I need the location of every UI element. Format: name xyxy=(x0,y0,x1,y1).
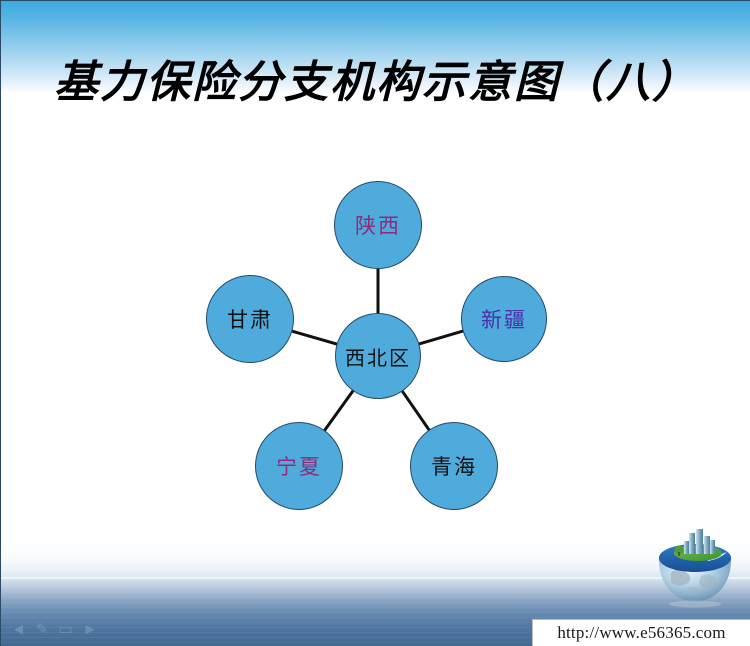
node-qinghai-label: 青海 xyxy=(431,451,477,481)
center-node-label: 西北区 xyxy=(345,342,411,371)
edge-node-xinjiang xyxy=(418,331,463,344)
node-shaanxi-label: 陕西 xyxy=(355,210,401,240)
slideshow-nav-controls[interactable]: ◄ ✎ ▭ ► xyxy=(11,622,97,637)
menu-icon[interactable]: ▭ xyxy=(58,622,72,637)
edge-node-gansu xyxy=(291,331,337,344)
node-ningxia[interactable]: 宁夏 xyxy=(255,422,343,510)
node-xinjiang[interactable]: 新疆 xyxy=(461,276,547,362)
pen-icon[interactable]: ✎ xyxy=(36,622,49,637)
website-url[interactable]: http://www.e56365.com xyxy=(532,619,750,646)
next-arrow-icon[interactable]: ► xyxy=(83,622,98,637)
website-url-text: http://www.e56365.com xyxy=(557,623,725,643)
presentation-slide: 基力保险分支机构示意图（八） 西北区 陕西 甘肃 新疆 宁夏 青海 xyxy=(0,0,750,646)
center-node[interactable]: 西北区 xyxy=(335,313,421,399)
node-qinghai[interactable]: 青海 xyxy=(410,422,498,510)
node-gansu-label: 甘肃 xyxy=(227,304,273,334)
node-xinjiang-label: 新疆 xyxy=(481,304,527,334)
node-gansu[interactable]: 甘肃 xyxy=(206,275,294,363)
earth-city-globe-logo xyxy=(651,528,739,610)
previous-arrow-icon[interactable]: ◄ xyxy=(11,622,26,637)
org-structure-diagram: 西北区 陕西 甘肃 新疆 宁夏 青海 xyxy=(1,1,750,646)
node-ningxia-label: 宁夏 xyxy=(276,451,322,481)
edge-node-qinghai xyxy=(402,391,430,431)
node-shaanxi[interactable]: 陕西 xyxy=(334,181,422,269)
edge-node-ningxia xyxy=(324,390,353,431)
